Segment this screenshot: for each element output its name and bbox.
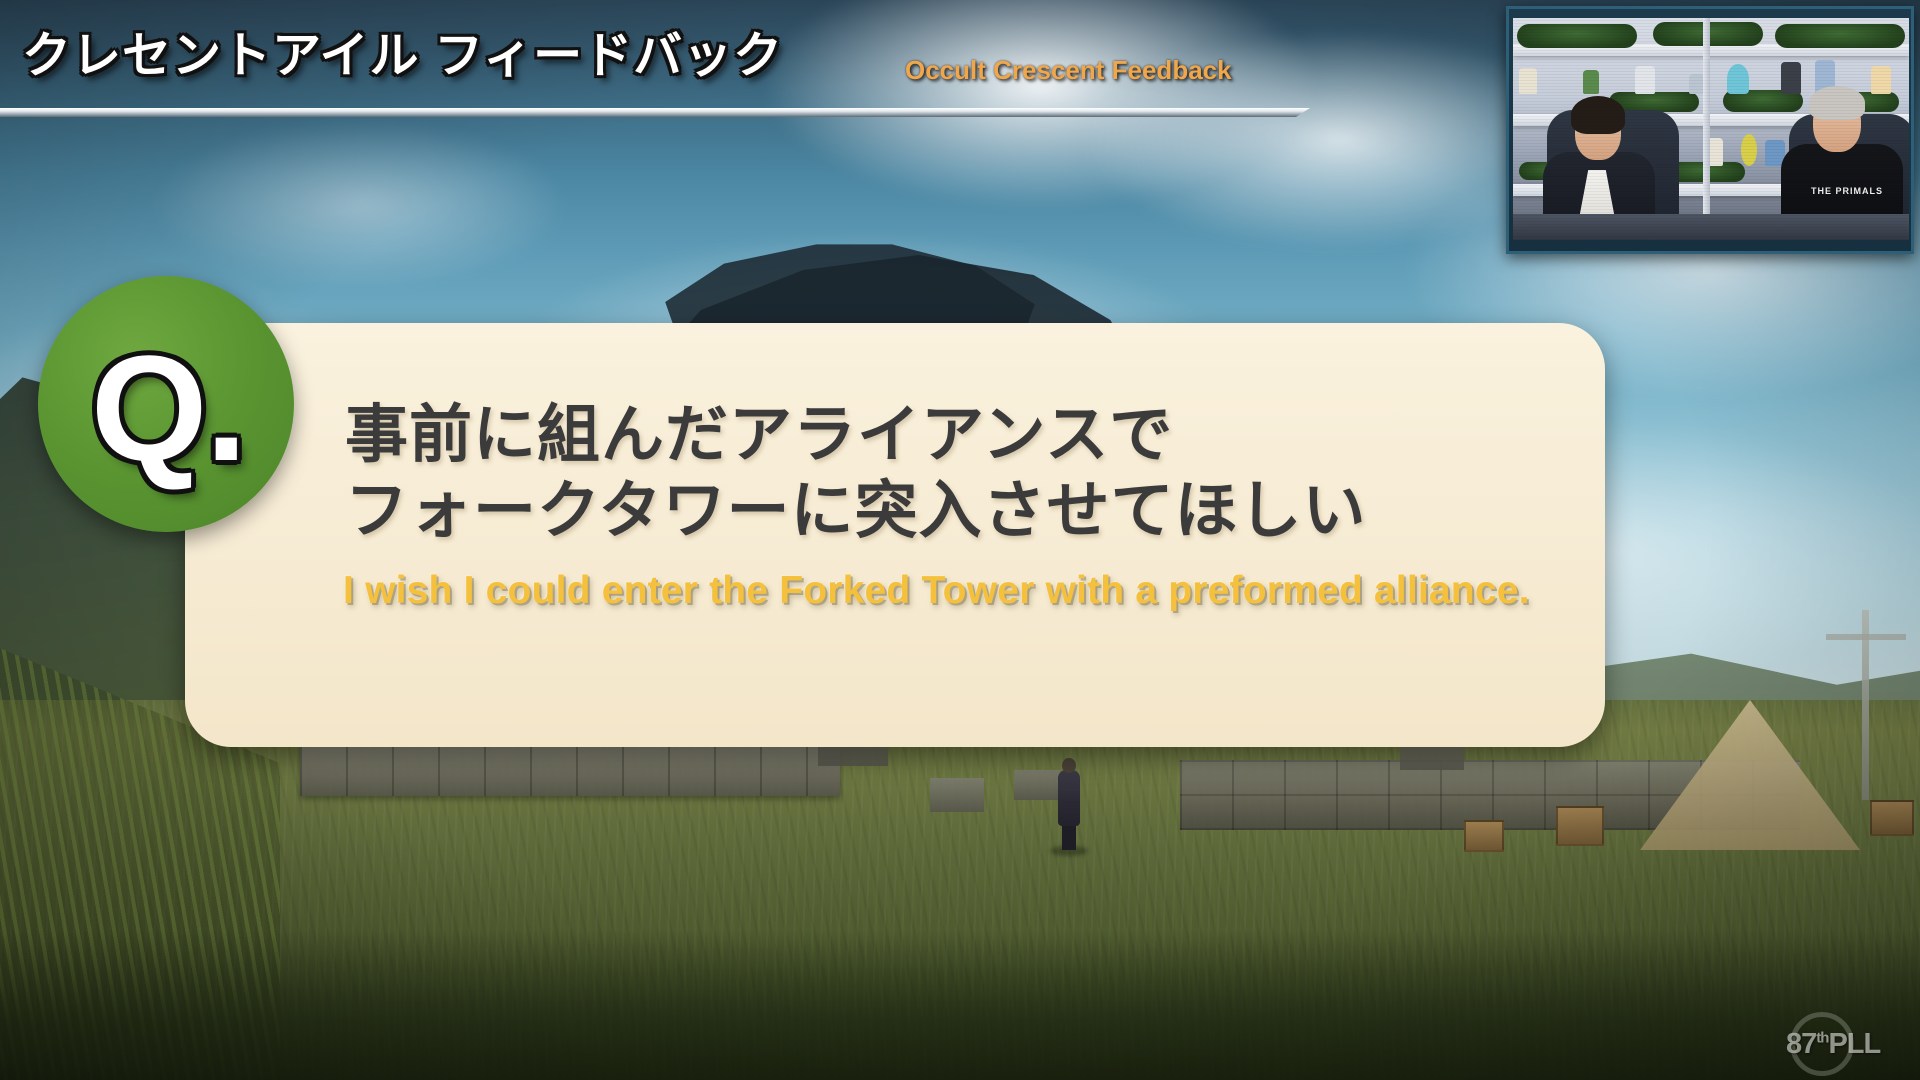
header-divider bbox=[0, 108, 1310, 117]
question-text-ja-line2: フォークタワーに突入させてほしい bbox=[345, 477, 1585, 545]
shelf-figurine bbox=[1727, 64, 1749, 94]
webcam-video: THE PRIMALS bbox=[1513, 18, 1909, 240]
ruin-block bbox=[930, 778, 984, 812]
question-card: 事前に組んだアライアンスで フォークタワーに突入させてほしい I wish I … bbox=[185, 323, 1605, 747]
studio-divider-post bbox=[1703, 18, 1710, 240]
watermark-number: 87 bbox=[1786, 1028, 1816, 1060]
question-text-ja-line1: 事前に組んだアライアンスで bbox=[345, 401, 1585, 469]
studio-desk bbox=[1513, 214, 1909, 240]
page-title: クレセントアイル フィードバック bbox=[22, 16, 783, 87]
foliage-decoration bbox=[1517, 24, 1637, 48]
question-badge: Q. bbox=[38, 276, 294, 532]
host-right-hair bbox=[1809, 86, 1865, 120]
foliage-decoration bbox=[1775, 24, 1905, 48]
shelf-figurine bbox=[1635, 66, 1655, 94]
ruin-block bbox=[1014, 770, 1060, 800]
character-head bbox=[1062, 758, 1076, 773]
player-character bbox=[1058, 770, 1080, 826]
shelf-figurine bbox=[1583, 70, 1599, 94]
watermark-ordinal: th bbox=[1816, 1029, 1828, 1046]
webcam-inset[interactable]: THE PRIMALS bbox=[1506, 6, 1914, 254]
crate bbox=[1556, 806, 1604, 846]
broadcast-watermark: 87thPLL bbox=[1786, 1028, 1880, 1061]
crate bbox=[1464, 820, 1504, 852]
shelf-figurine bbox=[1519, 68, 1537, 94]
character-legs bbox=[1062, 822, 1076, 850]
shelf-figurine bbox=[1741, 134, 1757, 166]
host-right-tshirt-text: THE PRIMALS bbox=[1809, 186, 1885, 197]
foreground-shadow bbox=[0, 930, 1920, 1080]
shelf-figurine bbox=[1871, 66, 1891, 94]
question-badge-label: Q. bbox=[91, 333, 245, 483]
slide-header: クレセントアイル フィードバック Occult Crescent Feedbac… bbox=[0, 0, 1320, 125]
crate bbox=[1870, 800, 1914, 836]
shelf-figurine bbox=[1781, 62, 1801, 94]
watermark-series: PLL bbox=[1828, 1028, 1880, 1060]
cloud bbox=[150, 120, 570, 290]
question-text-en: I wish I could enter the Forked Tower wi… bbox=[343, 569, 1603, 613]
page-subtitle-english: Occult Crescent Feedback bbox=[905, 55, 1232, 86]
stone-wall-left-seams bbox=[300, 744, 840, 796]
signal-pole-arm bbox=[1826, 634, 1906, 640]
host-left-hair bbox=[1571, 96, 1625, 134]
